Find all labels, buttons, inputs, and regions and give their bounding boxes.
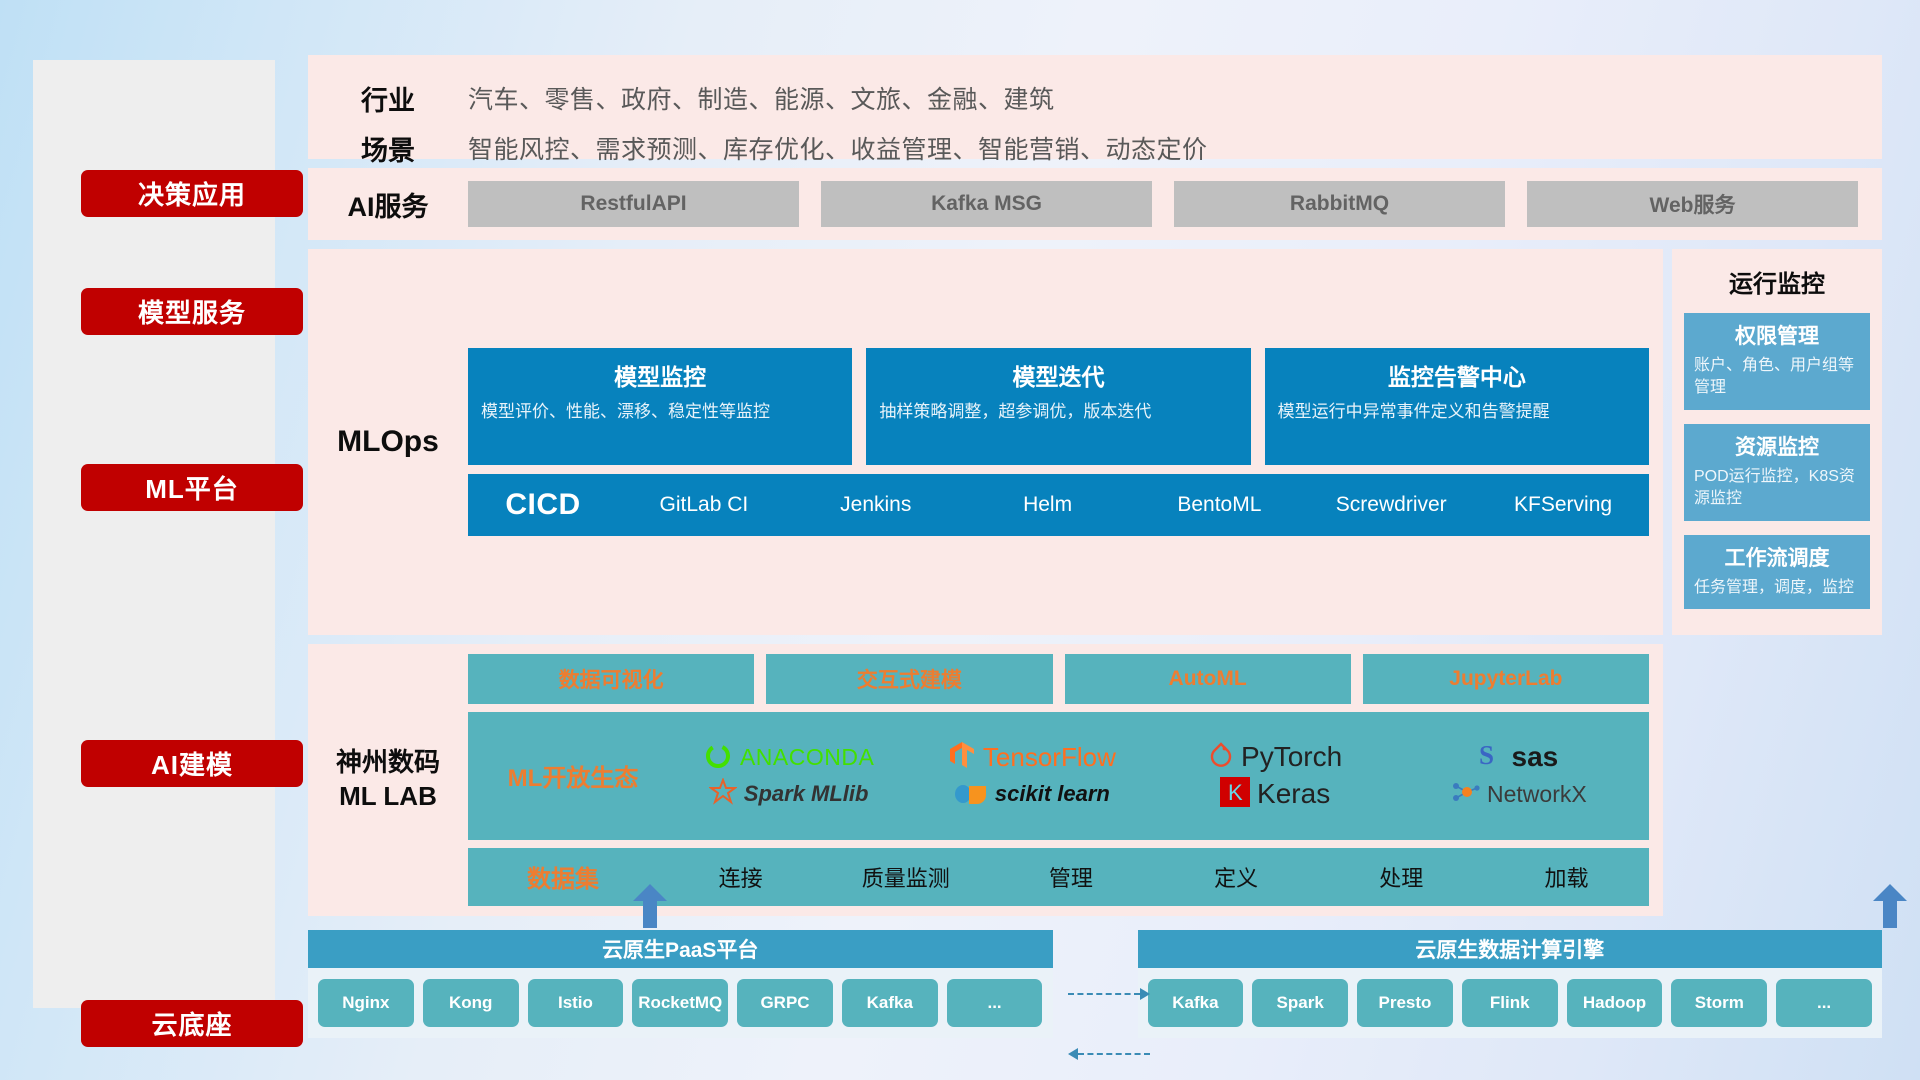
up-arrow-right-icon <box>1873 884 1907 928</box>
dataset-item-load[interactable]: 加载 <box>1484 861 1649 893</box>
card-title: 工作流调度 <box>1694 542 1860 572</box>
scenario-label: 场景 <box>308 129 468 168</box>
cloud-base-row: 云原生PaaS平台 Nginx Kong Istio RocketMQ GRPC… <box>308 930 1882 1038</box>
logo-spark-mllib: Spark MLlib <box>709 778 869 811</box>
ai-service-chip-row: RestfulAPI Kafka MSG RabbitMQ Web服务 <box>468 181 1882 227</box>
dataset-item-row: 连接 质量监测 管理 定义 处理 加载 <box>658 861 1649 893</box>
cicd-tool-row: GitLab CI Jenkins Helm BentoML Screwdriv… <box>618 493 1649 517</box>
ai-service-chip-rabbitmq[interactable]: RabbitMQ <box>1174 181 1505 227</box>
dashed-arrow-right-icon <box>1068 988 1150 1000</box>
svg-text:S: S <box>1479 741 1494 769</box>
cicd-tool-jenkins[interactable]: Jenkins <box>790 493 962 517</box>
logo-keras: K Keras <box>1220 777 1330 812</box>
cloud-compute-title: 云原生数据计算引擎 <box>1138 930 1883 968</box>
pytorch-icon <box>1208 740 1234 775</box>
mlops-card-alert-center[interactable]: 监控告警中心 模型运行中异常事件定义和告警提醒 <box>1265 348 1649 465</box>
runtime-monitoring-title: 运行监控 <box>1684 264 1870 299</box>
logo-label: scikit learn <box>995 783 1110 805</box>
cloud-paas-title: 云原生PaaS平台 <box>308 930 1053 968</box>
left-rail: 决策应用 模型服务 ML平台 AI建模 云底座 <box>33 60 275 1008</box>
sas-icon: S <box>1479 741 1505 774</box>
dataset-item-manage[interactable]: 管理 <box>988 861 1153 893</box>
ml-lab-label: 神州数码 ML LAB <box>308 746 468 814</box>
cloud-chip-nginx[interactable]: Nginx <box>318 979 414 1027</box>
cicd-tool-bentoml[interactable]: BentoML <box>1133 493 1305 517</box>
dataset-item-define[interactable]: 定义 <box>1154 861 1319 893</box>
scenario-value: 智能风控、需求预测、库存优化、收益管理、智能营销、动态定价 <box>468 130 1208 166</box>
cloud-paas-chip-row: Nginx Kong Istio RocketMQ GRPC Kafka ... <box>308 968 1053 1038</box>
ecosystem-logo-grid: ANACONDA TensorFlow <box>668 740 1639 812</box>
cloud-chip-grpc[interactable]: GRPC <box>737 979 833 1027</box>
card-title: 模型监控 <box>481 358 839 392</box>
dataset-item-process[interactable]: 处理 <box>1319 861 1484 893</box>
card-desc: 任务管理，调度，监控 <box>1694 577 1860 599</box>
cloud-compute-column: 云原生数据计算引擎 Kafka Spark Presto Flink Hadoo… <box>1138 930 1883 1038</box>
ai-service-chip-kafka-msg[interactable]: Kafka MSG <box>821 181 1152 227</box>
cicd-tool-helm[interactable]: Helm <box>962 493 1134 517</box>
ml-lab-tab-interactive-modeling[interactable]: 交互式建模 <box>766 654 1052 704</box>
cicd-bar: CICD GitLab CI Jenkins Helm BentoML Scre… <box>468 474 1649 536</box>
cicd-tool-gitlab-ci[interactable]: GitLab CI <box>618 493 790 517</box>
cloud-chip-kafka[interactable]: Kafka <box>842 979 938 1027</box>
rail-item-label: 决策应用 <box>138 175 246 212</box>
logo-sas: S sas <box>1479 741 1559 774</box>
logo-pytorch: PyTorch <box>1208 740 1342 775</box>
ai-service-chip-web-service[interactable]: Web服务 <box>1527 181 1858 227</box>
logo-label: Keras <box>1257 780 1330 808</box>
ai-service-chip-restfulapi[interactable]: RestfulAPI <box>468 181 799 227</box>
compute-chip-flink[interactable]: Flink <box>1462 979 1558 1027</box>
logo-label: ANACONDA <box>740 746 874 769</box>
compute-chip-hadoop[interactable]: Hadoop <box>1567 979 1663 1027</box>
mlops-stack: 模型监控 模型评价、性能、漂移、稳定性等监控 模型迭代 抽样策略调整，超参调优，… <box>468 348 1663 536</box>
cloud-compute-chip-row: Kafka Spark Presto Flink Hadoop Storm ..… <box>1138 968 1883 1038</box>
dashed-arrow-left-icon <box>1068 1048 1150 1060</box>
ai-service-band: AI服务 RestfulAPI Kafka MSG RabbitMQ Web服务 <box>308 168 1882 240</box>
card-title: 模型迭代 <box>879 358 1237 392</box>
ml-open-ecosystem-label: ML开放生态 <box>478 758 668 793</box>
rail-item-label: 云底座 <box>151 1005 232 1042</box>
card-title: 权限管理 <box>1694 320 1860 350</box>
cicd-label: CICD <box>468 488 618 522</box>
architecture-diagram: 决策应用 模型服务 ML平台 AI建模 云底座 行业 汽车、零售、政府、制造、能… <box>0 0 1920 1080</box>
ai-service-label: AI服务 <box>308 185 468 224</box>
mlops-card-model-iteration[interactable]: 模型迭代 抽样策略调整，超参调优，版本迭代 <box>866 348 1250 465</box>
monitor-card-resource[interactable]: 资源监控 POD运行监控，K8S资源监控 <box>1684 424 1870 521</box>
rail-item-cloud-base[interactable]: 云底座 <box>81 1000 303 1047</box>
ml-lab-label-line1: 神州数码 <box>308 746 468 780</box>
runtime-monitoring-panel: 运行监控 权限管理 账户、角色、用户组等管理 资源监控 POD运行监控，K8S资… <box>1672 249 1882 635</box>
card-desc: 模型运行中异常事件定义和告警提醒 <box>1278 400 1636 424</box>
ml-lab-tab-data-visualization[interactable]: 数据可视化 <box>468 654 754 704</box>
monitor-card-permission[interactable]: 权限管理 账户、角色、用户组等管理 <box>1684 313 1870 410</box>
ml-lab-tab-automl[interactable]: AutoML <box>1065 654 1351 704</box>
main-column: 行业 汽车、零售、政府、制造、能源、文旅、金融、建筑 场景 智能风控、需求预测、… <box>308 55 1882 1038</box>
logo-label: TensorFlow <box>983 744 1116 770</box>
cloud-chip-rocketmq[interactable]: RocketMQ <box>632 979 728 1027</box>
svg-text:K: K <box>1228 780 1243 805</box>
industry-label: 行业 <box>308 79 468 118</box>
logo-label: NetworkX <box>1487 783 1587 806</box>
mlops-row: MLOps 模型监控 模型评价、性能、漂移、稳定性等监控 模型迭代 抽样策略调整… <box>308 249 1882 635</box>
networkx-icon <box>1450 778 1480 811</box>
rail-item-ml-platform[interactable]: ML平台 <box>81 464 303 511</box>
mlops-card-row: 模型监控 模型评价、性能、漂移、稳定性等监控 模型迭代 抽样策略调整，超参调优，… <box>468 348 1649 465</box>
tensorflow-icon <box>948 740 976 775</box>
ml-lab-stack: 数据可视化 交互式建模 AutoML JupyterLab ML开放生态 <box>468 654 1663 906</box>
dataset-item-connect[interactable]: 连接 <box>658 861 823 893</box>
ml-lab-tab-jupyterlab[interactable]: JupyterLab <box>1363 654 1649 704</box>
rail-item-decision-app[interactable]: 决策应用 <box>81 170 303 217</box>
cloud-chip-more[interactable]: ... <box>947 979 1043 1027</box>
scikit-learn-icon <box>954 778 988 811</box>
logo-label: sas <box>1512 743 1559 771</box>
logo-label: PyTorch <box>1241 743 1342 771</box>
card-desc: 模型评价、性能、漂移、稳定性等监控 <box>481 400 839 424</box>
rail-item-label: ML平台 <box>145 469 239 506</box>
ml-lab-band: 神州数码 ML LAB 数据可视化 交互式建模 AutoML JupyterLa… <box>308 644 1663 916</box>
logo-anaconda: ANACONDA <box>703 740 874 775</box>
mlops-card-model-monitoring[interactable]: 模型监控 模型评价、性能、漂移、稳定性等监控 <box>468 348 852 465</box>
logo-networkx: NetworkX <box>1450 778 1587 811</box>
up-arrow-left-icon <box>633 884 667 928</box>
card-desc: 抽样策略调整，超参调优，版本迭代 <box>879 400 1237 424</box>
scenario-row: 场景 智能风控、需求预测、库存优化、收益管理、智能营销、动态定价 <box>308 123 1882 173</box>
logo-label: Spark MLlib <box>744 783 869 805</box>
cicd-tool-screwdriver[interactable]: Screwdriver <box>1305 493 1477 517</box>
ml-open-ecosystem: ML开放生态 ANACONDA <box>468 712 1649 840</box>
rail-item-label: 模型服务 <box>138 293 246 330</box>
ml-lab-row: 神州数码 ML LAB 数据可视化 交互式建模 AutoML JupyterLa… <box>308 644 1882 916</box>
compute-chip-storm[interactable]: Storm <box>1671 979 1767 1027</box>
cloud-chip-istio[interactable]: Istio <box>528 979 624 1027</box>
compute-chip-more[interactable]: ... <box>1776 979 1872 1027</box>
rail-item-model-service[interactable]: 模型服务 <box>81 288 303 335</box>
ml-lab-tab-row: 数据可视化 交互式建模 AutoML JupyterLab <box>468 654 1649 704</box>
ml-lab-label-line2: ML LAB <box>308 780 468 814</box>
keras-icon: K <box>1220 777 1250 812</box>
cicd-tool-kfserving[interactable]: KFServing <box>1477 493 1649 517</box>
anaconda-icon <box>703 740 733 775</box>
monitor-card-workflow[interactable]: 工作流调度 任务管理，调度，监控 <box>1684 535 1870 609</box>
industry-row: 行业 汽车、零售、政府、制造、能源、文旅、金融、建筑 <box>308 73 1882 123</box>
dataset-label: 数据集 <box>468 859 658 894</box>
card-desc: 账户、角色、用户组等管理 <box>1694 355 1860 400</box>
compute-chip-presto[interactable]: Presto <box>1357 979 1453 1027</box>
rail-item-ai-modeling[interactable]: AI建模 <box>81 740 303 787</box>
card-title: 资源监控 <box>1694 431 1860 461</box>
monitor-spacer <box>1672 644 1882 916</box>
industry-value: 汽车、零售、政府、制造、能源、文旅、金融、建筑 <box>468 80 1055 116</box>
rail-item-label: AI建模 <box>151 745 233 782</box>
logo-tensorflow: TensorFlow <box>948 740 1116 775</box>
mlops-band: MLOps 模型监控 模型评价、性能、漂移、稳定性等监控 模型迭代 抽样策略调整… <box>308 249 1663 635</box>
spark-icon <box>709 778 737 811</box>
logo-scikit-learn: scikit learn <box>954 778 1110 811</box>
compute-chip-spark[interactable]: Spark <box>1252 979 1348 1027</box>
card-title: 监控告警中心 <box>1278 358 1636 392</box>
compute-chip-kafka[interactable]: Kafka <box>1148 979 1244 1027</box>
mlops-label: MLOps <box>308 425 468 459</box>
dataset-item-quality-monitor[interactable]: 质量监测 <box>823 861 988 893</box>
cloud-chip-kong[interactable]: Kong <box>423 979 519 1027</box>
decision-application-band: 行业 汽车、零售、政府、制造、能源、文旅、金融、建筑 场景 智能风控、需求预测、… <box>308 55 1882 159</box>
cloud-paas-column: 云原生PaaS平台 Nginx Kong Istio RocketMQ GRPC… <box>308 930 1053 1038</box>
card-desc: POD运行监控，K8S资源监控 <box>1694 466 1860 511</box>
